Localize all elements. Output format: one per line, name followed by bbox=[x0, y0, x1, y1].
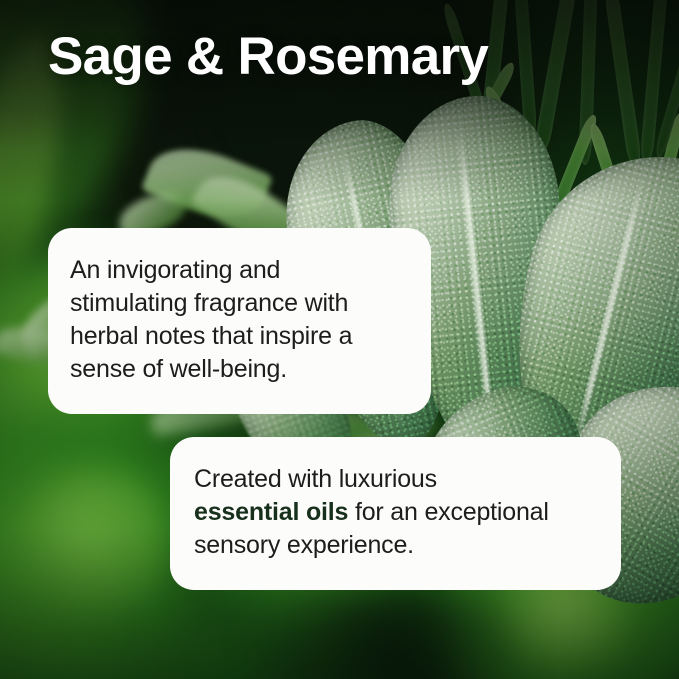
card-2-line-3: sensory experience. bbox=[194, 529, 597, 562]
card-2-line-2-rest: for an exceptional bbox=[348, 498, 549, 526]
card-1-line-4: sense of well-being. bbox=[70, 353, 403, 386]
card-1-line-2: stimulating fragrance with bbox=[70, 287, 403, 320]
essential-oils-highlight: essential oils bbox=[194, 498, 348, 526]
product-feature-banner: Sage & Rosemary An invigorating and stim… bbox=[0, 0, 679, 679]
fragrance-description-card: An invigorating and stimulating fragranc… bbox=[48, 228, 431, 414]
card-1-line-1: An invigorating and bbox=[70, 254, 403, 287]
card-2-line-2: essential oils for an exceptional bbox=[194, 496, 597, 529]
card-1-line-3: herbal notes that inspire a bbox=[70, 320, 403, 353]
card-2-line-1: Created with luxurious bbox=[194, 463, 597, 496]
essential-oils-description-card: Created with luxurious essential oils fo… bbox=[170, 437, 621, 590]
page-title: Sage & Rosemary bbox=[48, 26, 488, 87]
